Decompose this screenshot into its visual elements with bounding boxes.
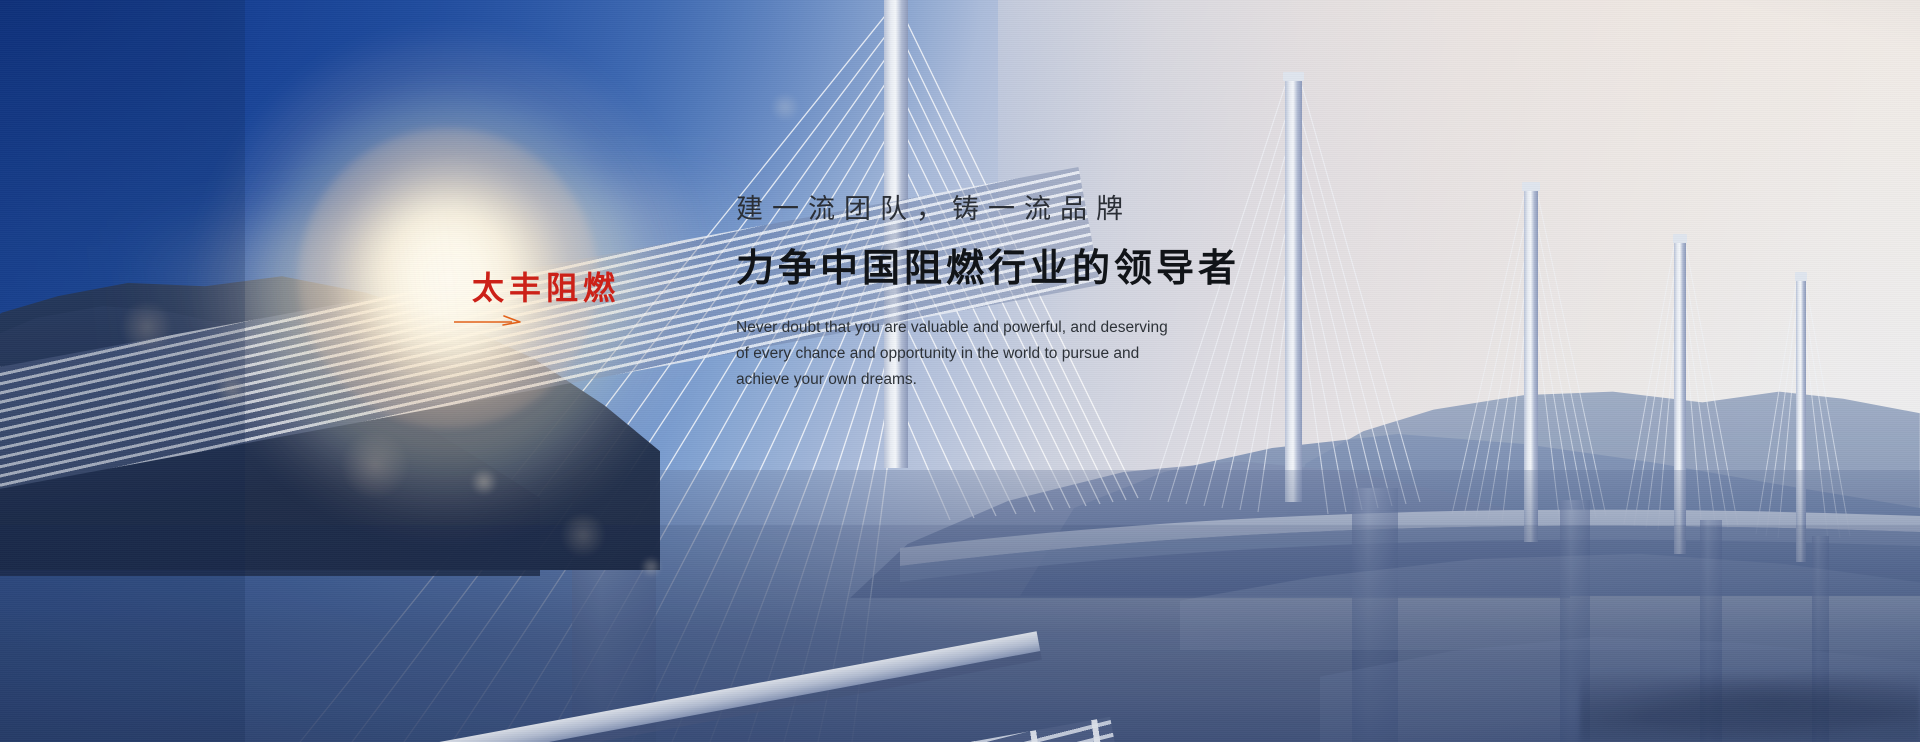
tagline: 建一流团队，铸一流品牌 <box>736 196 1240 223</box>
subcopy-line-1: Never doubt that you are valuable and po… <box>736 315 1206 341</box>
hero-banner: 太丰阻燃 建一流团队，铸一流品牌 力争中国阻燃行业的领导者 Never doub… <box>0 0 1920 742</box>
headline-block: 建一流团队，铸一流品牌 力争中国阻燃行业的领导者 Never doubt tha… <box>736 196 1240 393</box>
right-arrow-icon <box>454 314 522 328</box>
brand-logo[interactable]: 太丰阻燃 <box>472 272 620 304</box>
brand-logo-text: 太丰阻燃 <box>472 272 620 304</box>
banner-content: 太丰阻燃 建一流团队，铸一流品牌 力争中国阻燃行业的领导者 Never doub… <box>0 0 1920 742</box>
headline: 力争中国阻燃行业的领导者 <box>736 250 1240 288</box>
subcopy-line-3: achieve your own dreams. <box>736 367 1206 393</box>
subcopy-line-2: of every chance and opportunity in the w… <box>736 341 1206 367</box>
subcopy: Never doubt that you are valuable and po… <box>736 315 1206 393</box>
